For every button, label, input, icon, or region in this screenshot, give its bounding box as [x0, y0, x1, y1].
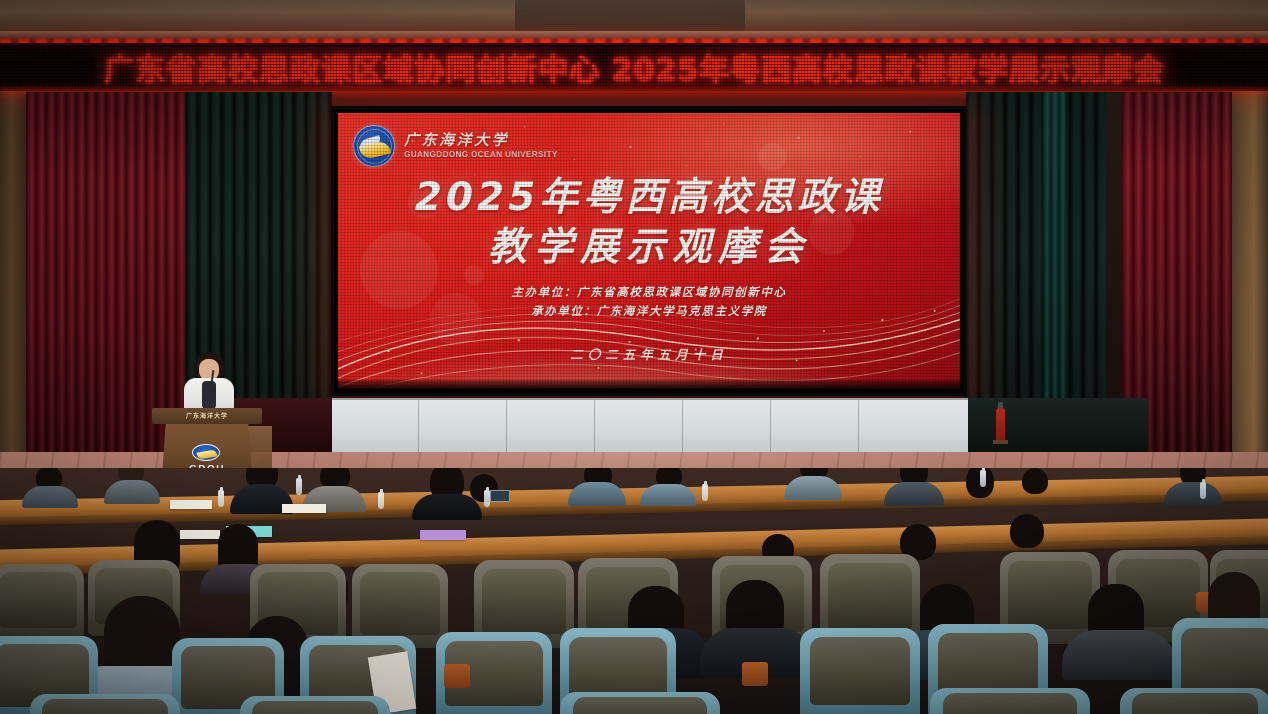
seat[interactable] — [1120, 688, 1268, 714]
gdou-emblem-icon — [192, 444, 220, 461]
wall-pillar-left — [0, 44, 26, 474]
water-bottle — [296, 478, 302, 495]
speaker-inner-top — [202, 381, 216, 409]
attendee-head — [1022, 468, 1048, 494]
armrest — [444, 664, 470, 688]
water-bottle — [702, 484, 708, 501]
attendee-body — [640, 484, 696, 506]
extinguisher-stand — [993, 440, 1008, 444]
led-banner: 广东省高校思政课区域协同创新中心 2025年粤西高校思政课教学展示观摩会 — [0, 43, 1268, 91]
university-identity: 广东海洋大学 GUANGDDONG OCEAN UNIVERSITY — [353, 125, 558, 167]
stage-led-screen: 广东海洋大学 GUANGDDONG OCEAN UNIVERSITY 2025年… — [331, 106, 967, 396]
ribbon-decoration — [338, 279, 960, 389]
water-bottle — [1200, 482, 1206, 499]
lectern-top: 广东海洋大学 — [152, 408, 262, 424]
fire-extinguisher-icon — [996, 408, 1005, 442]
attendee-body — [884, 482, 944, 506]
screen-title-line2: 教学展示观摩会 — [338, 223, 960, 274]
seat[interactable] — [560, 692, 720, 714]
seat[interactable] — [240, 696, 390, 714]
podium-plate-text: 广东海洋大学 — [152, 411, 262, 420]
screen-surface: 广东海洋大学 GUANGDDONG OCEAN UNIVERSITY 2025年… — [338, 113, 960, 389]
seat[interactable] — [800, 628, 920, 714]
ceiling-beam — [0, 0, 1268, 44]
attendee-body — [22, 486, 78, 508]
attendee-body — [1164, 482, 1222, 506]
attendee-body — [104, 480, 160, 504]
led-banner-text: 广东省高校思政课区域协同创新中心 2025年粤西高校思政课教学展示观摩会 — [0, 45, 1268, 89]
attendee-body — [784, 476, 842, 500]
university-name-en: GUANGDDONG OCEAN UNIVERSITY — [404, 151, 558, 160]
water-bottle — [218, 490, 224, 507]
tablet-device[interactable] — [490, 490, 510, 502]
university-name-cn: 广东海洋大学 — [404, 133, 558, 149]
audience-area — [0, 468, 1268, 714]
attendee-head — [1010, 514, 1044, 548]
apron-shadow-right — [968, 398, 1148, 456]
paper-doc — [282, 504, 326, 513]
ribbon-lines-icon — [338, 285, 960, 389]
seat[interactable] — [30, 694, 180, 714]
university-seal-icon — [353, 125, 395, 167]
water-bottle — [980, 470, 986, 487]
screen-title: 2025年粤西高校思政课 教学展示观摩会 — [338, 175, 960, 274]
water-bottle — [378, 492, 384, 509]
attendee-body — [412, 494, 482, 520]
attendee-body — [1062, 630, 1176, 680]
paper-doc — [420, 530, 466, 540]
paper-doc — [180, 530, 220, 539]
auditorium-scene: 广东省高校思政课区域协同创新中心 2025年粤西高校思政课教学展示观摩会 — [0, 0, 1268, 714]
stage-apron-panels — [332, 398, 968, 456]
speaker-person — [178, 352, 240, 414]
armrest — [742, 662, 768, 686]
screen-title-line1: 2025年粤西高校思政课 — [338, 175, 960, 221]
paper-doc — [170, 500, 212, 509]
seat[interactable] — [0, 564, 84, 640]
seat[interactable] — [930, 688, 1090, 714]
attendee-body — [568, 482, 626, 506]
